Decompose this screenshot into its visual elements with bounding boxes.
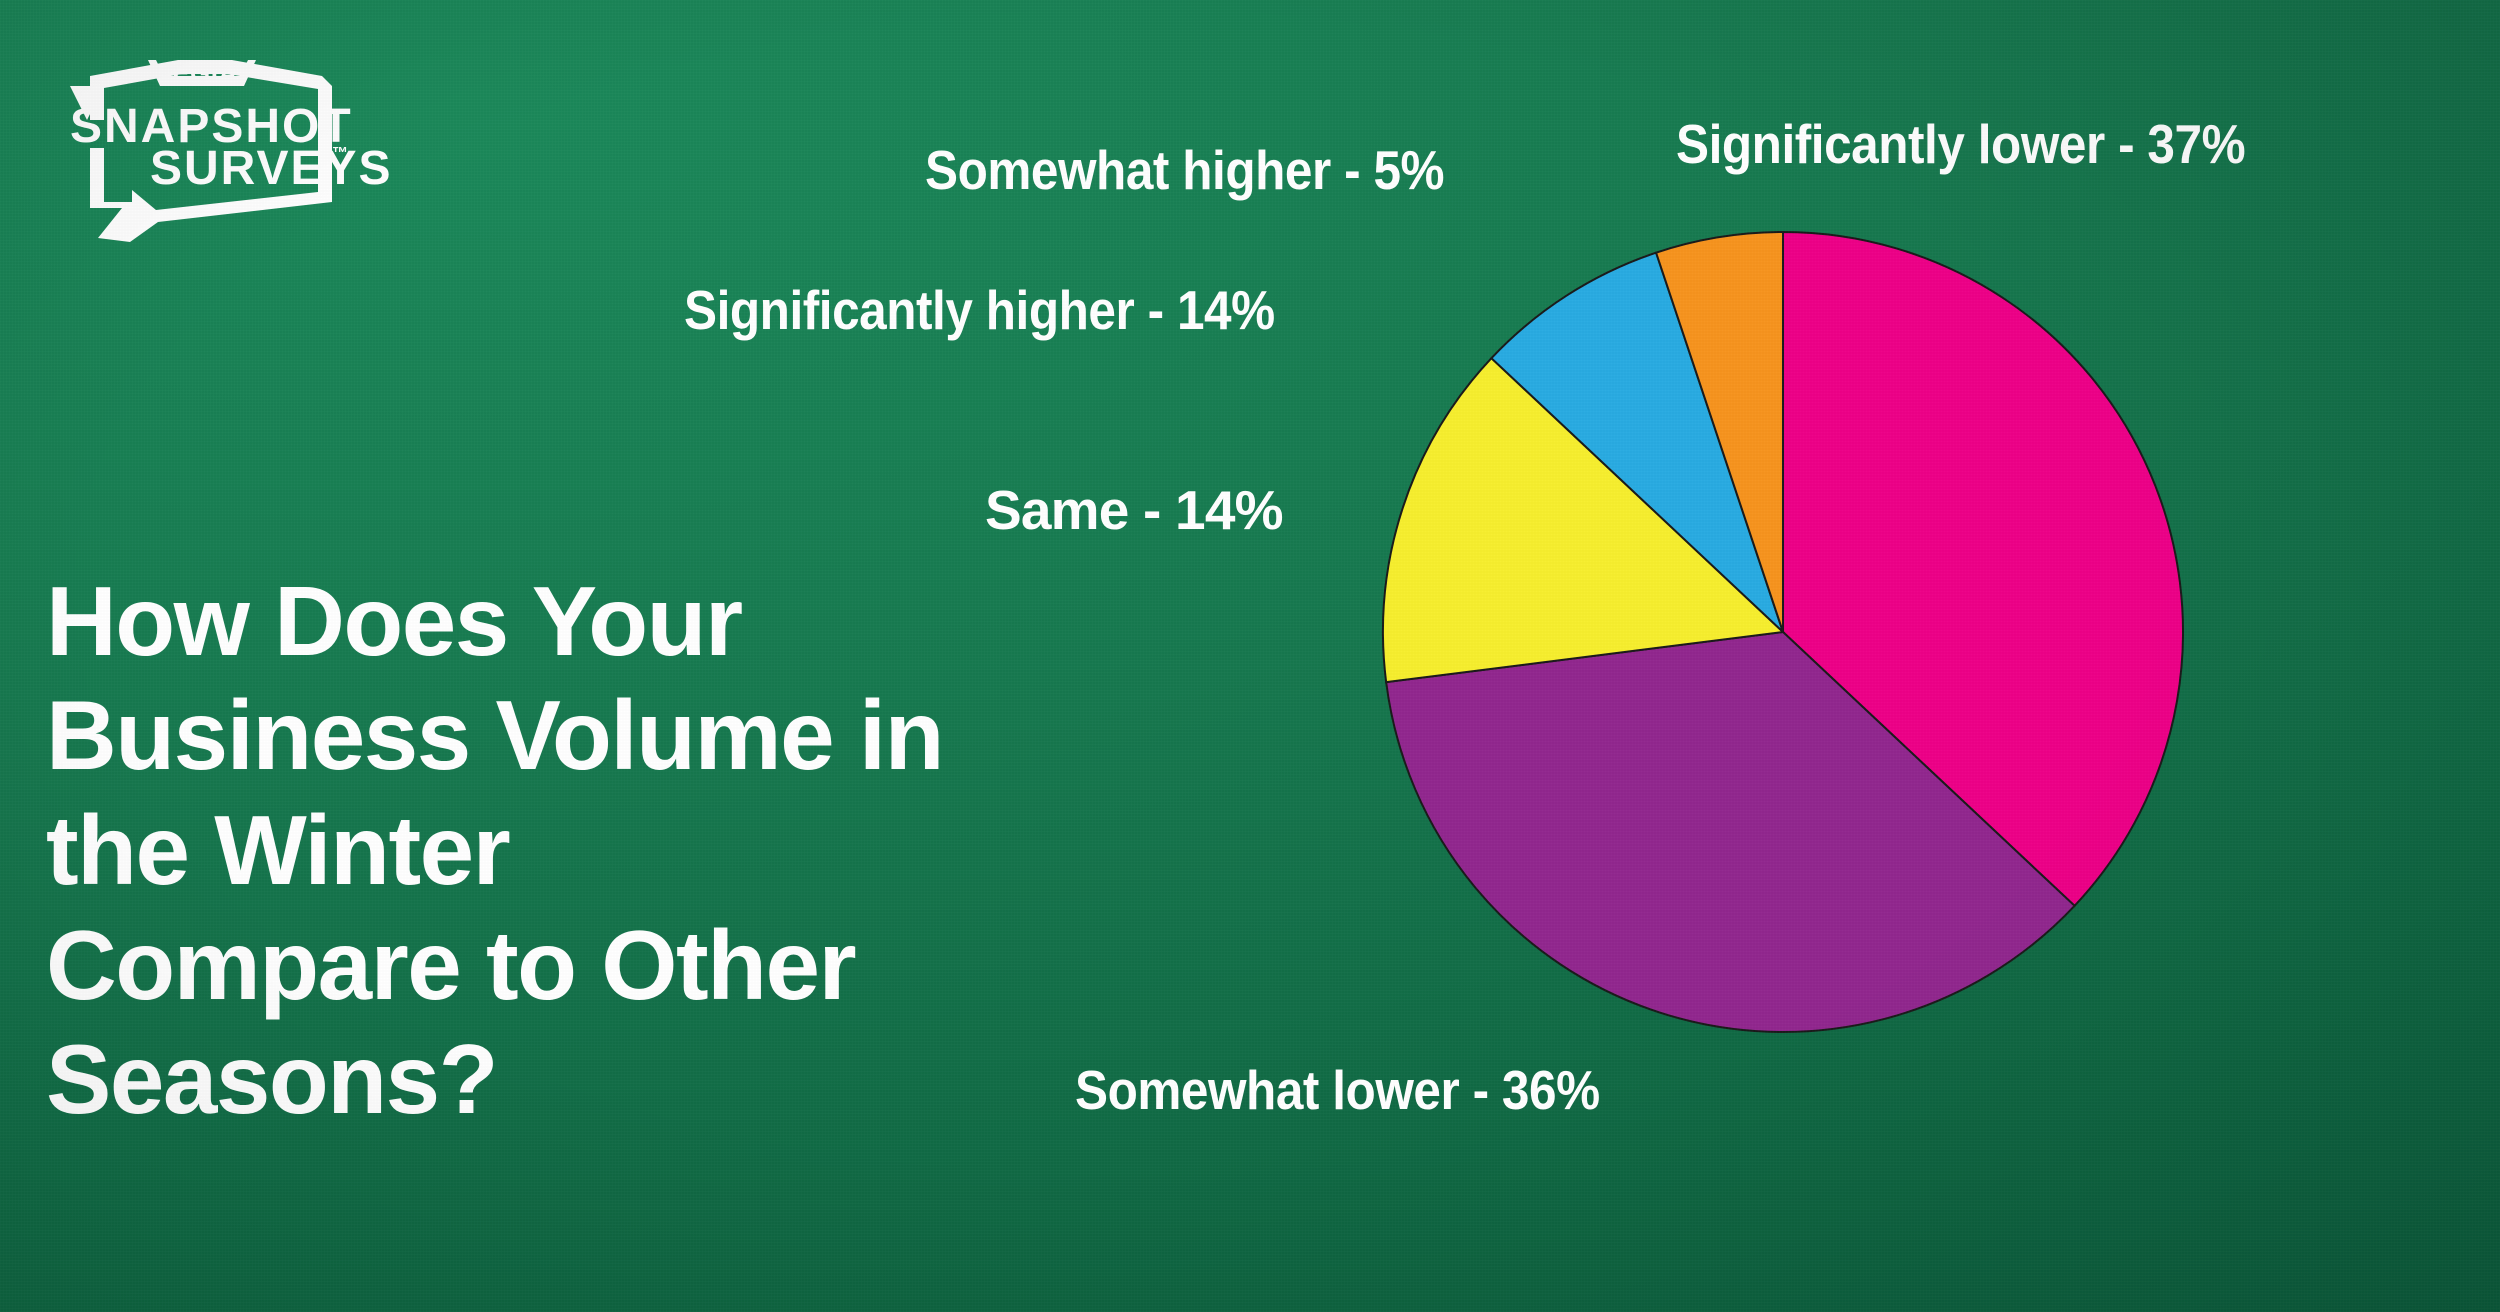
pie-label-somewhat-lower: Somewhat lower - 36% <box>1075 1058 1600 1122</box>
pie-slice-group <box>1383 232 2183 1032</box>
logo-trademark-symbol: ™ <box>332 145 348 162</box>
pie-label-somewhat-higher: Somewhat higher - 5% <box>925 138 1444 202</box>
infographic-canvas: EGIA SNAPSHOT SURVEYS ™ How Does Your Bu… <box>0 0 2500 1312</box>
page-title: How Does Your Business Volume in the Win… <box>46 564 1126 1137</box>
pie-label-significantly-lower: Significantly lower - 37% <box>1676 112 2245 176</box>
pie-chart <box>1381 230 2185 1034</box>
egia-snapshot-surveys-logo: EGIA SNAPSHOT SURVEYS ™ <box>60 42 350 252</box>
logo-egia-text: EGIA <box>172 58 238 88</box>
pie-label-significantly-higher: Significantly higher - 14% <box>684 278 1275 342</box>
pie-label-same: Same - 14% <box>985 478 1283 542</box>
logo-surveys-text: SURVEYS <box>150 142 393 195</box>
